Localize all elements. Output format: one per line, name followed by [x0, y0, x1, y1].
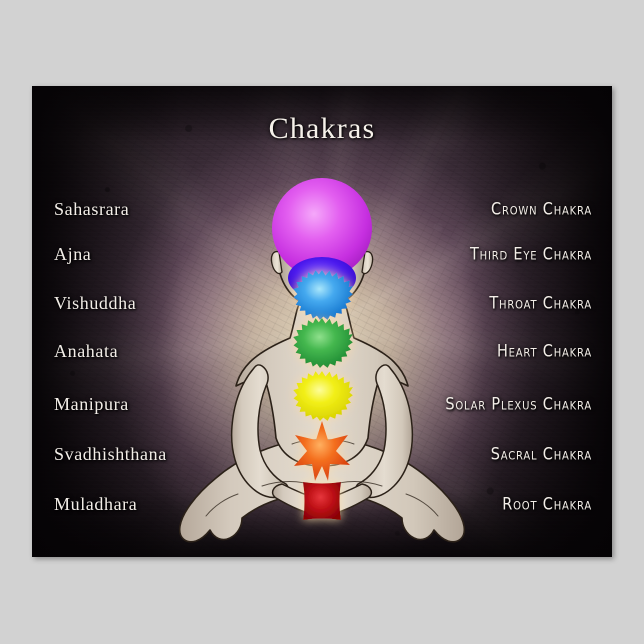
label-throat-chakra: Throat Chakra: [489, 295, 592, 314]
chakra-sacral-star: [290, 419, 354, 483]
label-crown-chakra: Crown Chakra: [491, 201, 592, 220]
chakra-root-square: [298, 477, 346, 525]
label-ajna: Ajna: [54, 244, 91, 265]
label-manipura: Manipura: [54, 394, 129, 415]
chakras-poster: Chakras: [32, 86, 612, 557]
label-svadhishthana: Svadhishthana: [54, 444, 167, 465]
label-third-eye-chakra: Third Eye Chakra: [470, 246, 592, 265]
label-heart-chakra: Heart Chakra: [497, 343, 592, 362]
label-anahata: Anahata: [54, 341, 118, 362]
label-vishuddha: Vishuddha: [54, 293, 136, 314]
label-muladhara: Muladhara: [54, 494, 137, 515]
poster-title: Chakras: [32, 112, 612, 146]
label-root-chakra: Root Chakra: [502, 496, 592, 515]
label-sahasrara: Sahasrara: [54, 199, 129, 220]
label-sacral-chakra: Sacral Chakra: [491, 446, 592, 465]
poster-stage: Chakras: [0, 0, 644, 644]
label-solar-plexus-chakra: Solar Plexus Chakra: [445, 396, 592, 415]
